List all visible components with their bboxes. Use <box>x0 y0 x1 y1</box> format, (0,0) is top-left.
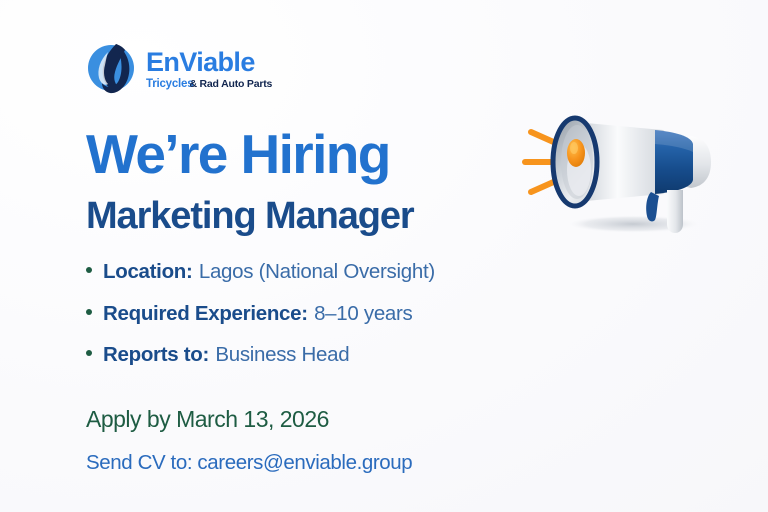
fact-separator: : <box>186 262 193 283</box>
brand-logo: EnViable Tricycles & Rad Auto Parts <box>86 38 272 98</box>
list-item: Location: Lagos (National Oversight) <box>86 262 435 283</box>
fact-value: Lagos (National Oversight) <box>199 262 435 283</box>
brand-tagline: Tricycles & Rad Auto Parts <box>146 79 272 91</box>
bullet-dot-icon <box>86 267 92 273</box>
megaphone-icon <box>505 100 740 240</box>
bullet-dot-icon <box>86 309 92 315</box>
bullet-dot-icon <box>86 350 92 356</box>
fact-label: Location <box>103 262 186 283</box>
contact-email-line: Send CV to: careers@enviable.group <box>86 453 412 474</box>
enviable-droplet-logo-icon <box>86 38 140 98</box>
application-deadline: Apply by March 13, 2026 <box>86 408 329 431</box>
fact-value: 8–10 years <box>314 304 412 325</box>
list-item: Required Experience: 8–10 years <box>86 304 435 325</box>
hiring-poster: EnViable Tricycles & Rad Auto Parts We’r… <box>0 0 768 512</box>
brand-tagline-part1: Tricycles <box>146 79 193 91</box>
fact-label: Reports to <box>103 345 203 366</box>
list-item: Reports to: Business Head <box>86 345 435 366</box>
headline-job-title: Marketing Manager <box>86 197 414 235</box>
headline-were-hiring: We’re Hiring <box>86 127 390 182</box>
megaphone-handle <box>667 190 683 233</box>
fact-separator: : <box>203 345 210 366</box>
job-details-list: Location: Lagos (National Oversight) Req… <box>86 262 435 387</box>
fact-separator: : <box>301 304 308 325</box>
fact-value: Business Head <box>215 345 349 366</box>
fact-label: Required Experience <box>103 304 301 325</box>
brand-tagline-part2: & Rad Auto Parts <box>189 79 272 90</box>
brand-name: EnViable <box>146 47 255 77</box>
